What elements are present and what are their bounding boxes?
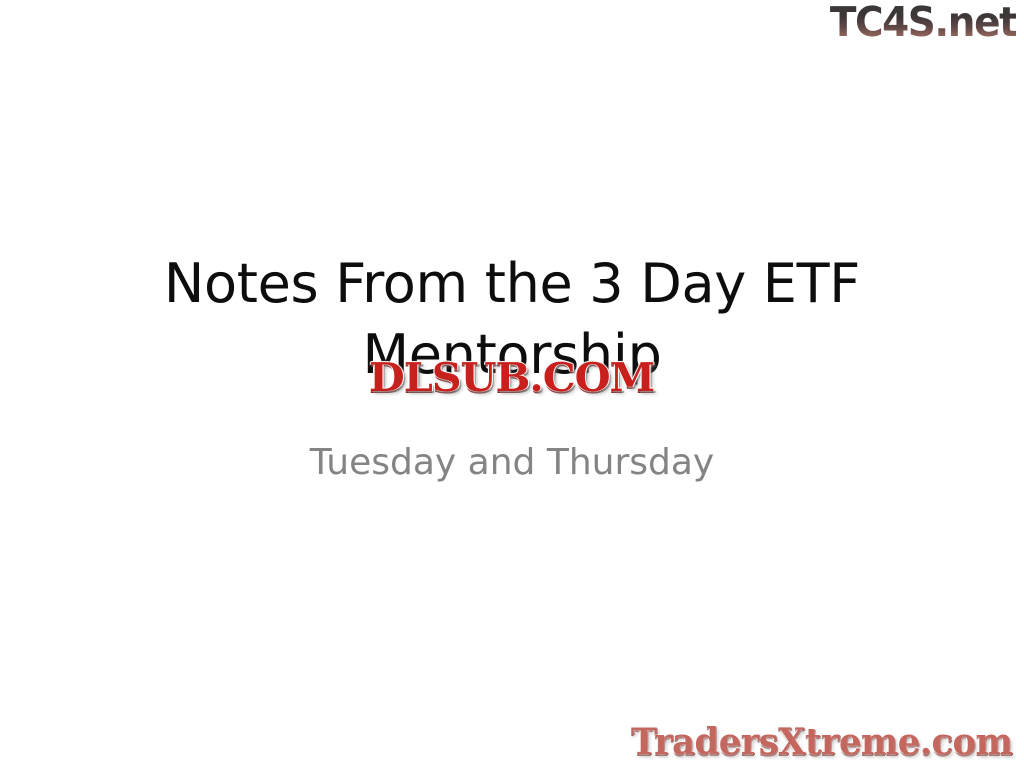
tradersxtreme-logo-text: TradersXtreme.com (631, 724, 1012, 760)
tc4s-logo-text: TC4S.net (830, 2, 1016, 43)
slide-subtitle: Tuesday and Thursday (128, 440, 896, 485)
presentation-slide: TC4S.net Notes From the 3 Day ETF Mentor… (0, 0, 1024, 768)
tc4s-logo: TC4S.net (820, 2, 1016, 43)
tradersxtreme-logo: TradersXtreme.com (627, 724, 1016, 760)
slide-title: Notes From the 3 Day ETF Mentorship (128, 248, 896, 391)
title-placeholder: Notes From the 3 Day ETF Mentorship (128, 248, 896, 391)
subtitle-placeholder: Tuesday and Thursday (128, 440, 896, 485)
